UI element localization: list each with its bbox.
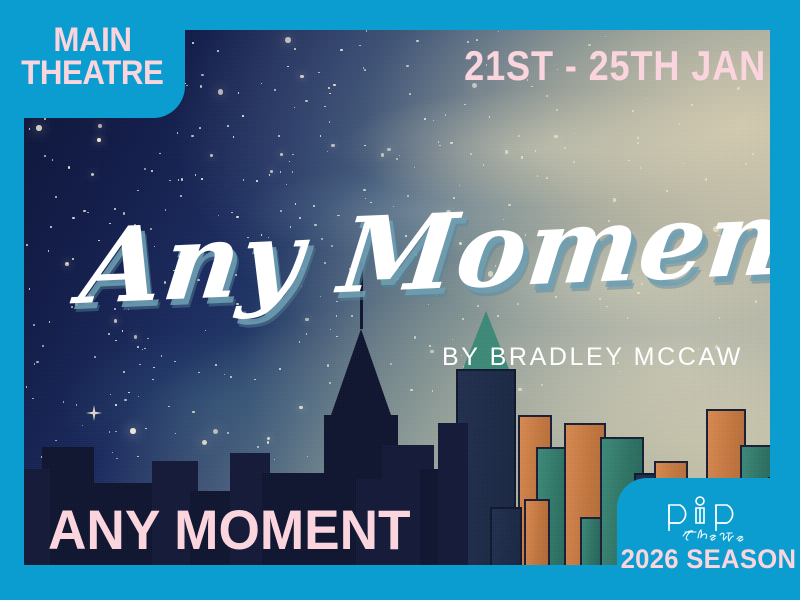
pip-theatre-logo-icon (654, 490, 764, 542)
venue-tab-line1: MAIN (53, 24, 131, 57)
venue-tab: MAIN THEATRE (0, 0, 185, 118)
season-label: 2026 SEASON (621, 544, 797, 575)
show-title-script: Any Moment.. (76, 187, 752, 319)
headline-group: Any Moment.. BY BRADLEY MCCAW (82, 215, 742, 319)
show-title-block: ANY MOMENT (48, 497, 411, 562)
poster-canvas: Any Moment.. BY BRADLEY MCCAW MAIN THEAT… (0, 0, 800, 600)
venue-tab-line2: THEATRE (21, 57, 163, 90)
season-dates: 21ST - 25TH JAN (464, 42, 766, 90)
season-badge: 2026 SEASON (617, 478, 800, 600)
playwright-credit: BY BRADLEY MCCAW (442, 343, 743, 372)
